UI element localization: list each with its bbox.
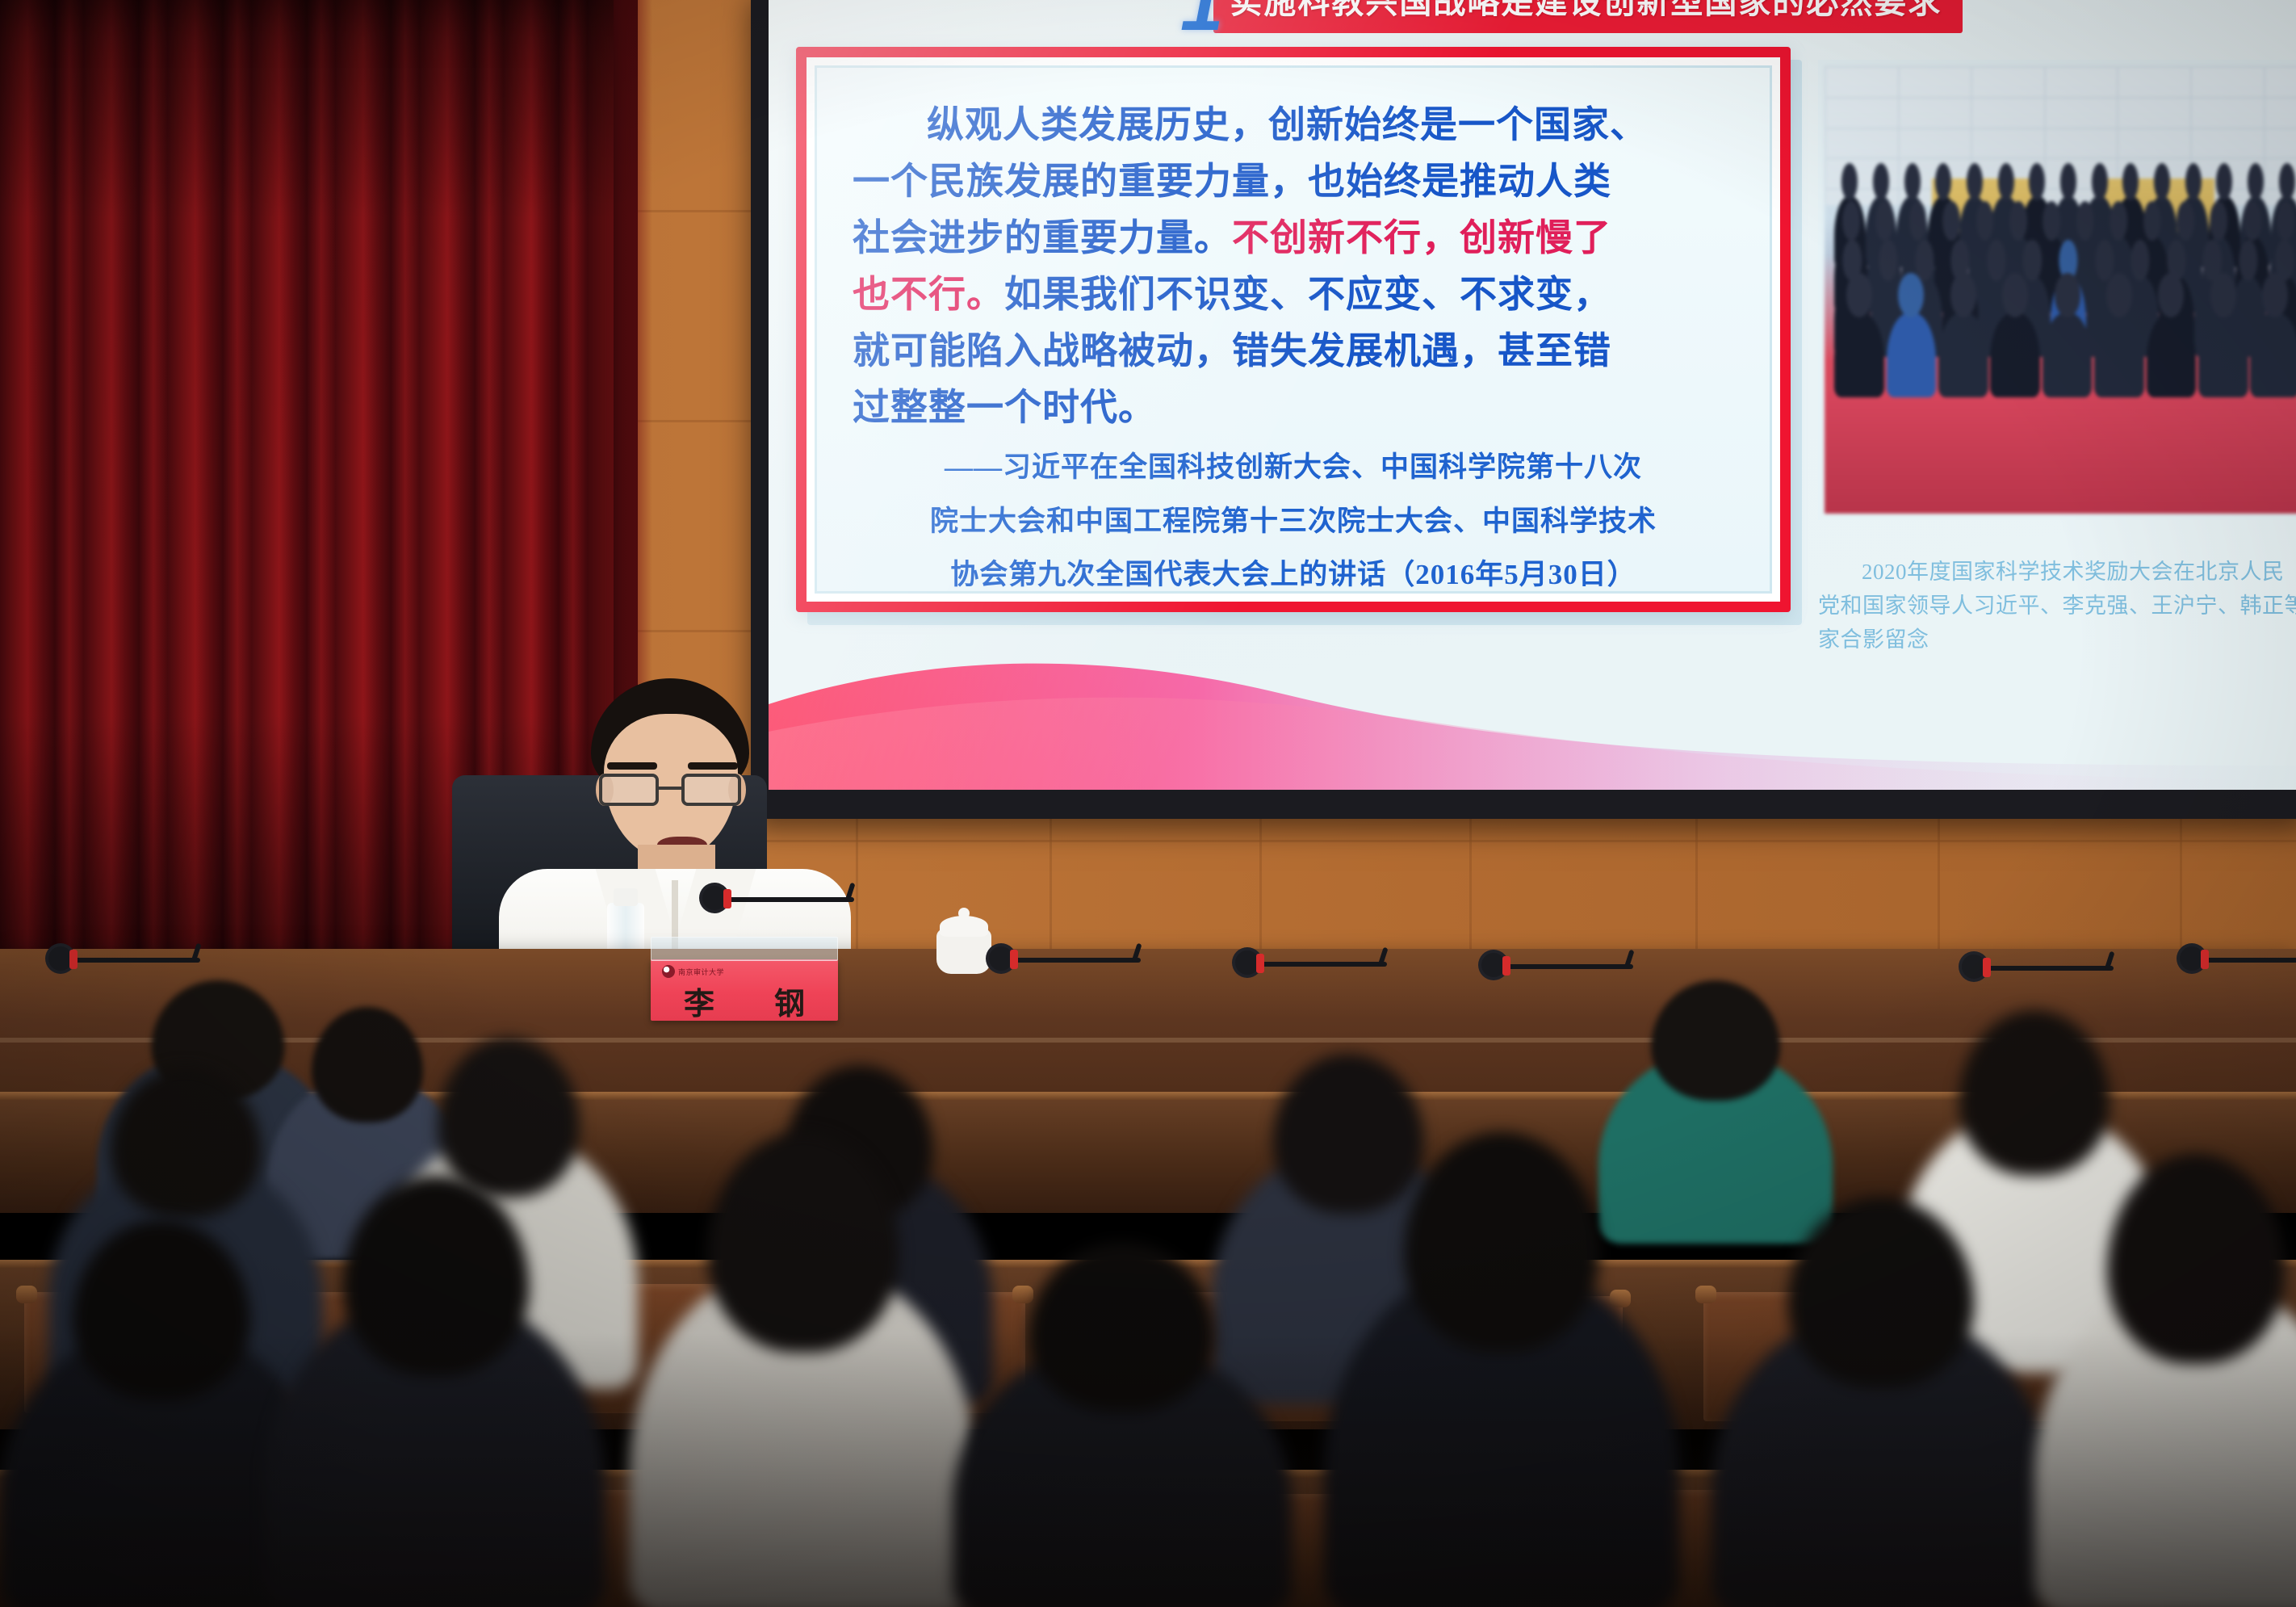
gooseneck-microphone-icon <box>1962 945 2139 993</box>
quote-body: 纵观人类发展历史，创新始终是一个国家、一个民族发展的重要力量，也始终是推动人类社… <box>853 97 1734 435</box>
nameplate-institution-text: 南京审计大学 <box>678 967 724 977</box>
slide-title: 实施科教兴国战略是建设创新型国家的必然要求 <box>1213 0 1963 33</box>
group-photo <box>1825 66 2296 514</box>
nameplate-name: 李 钢 <box>651 979 838 1021</box>
photo-person <box>2043 313 2093 397</box>
tea-cup-icon <box>936 929 991 974</box>
slide-wave-decoration <box>769 644 2296 790</box>
photo-person <box>1834 313 1884 397</box>
conference-scene: 1 实施科教兴国战略是建设创新型国家的必然要求 纵观人类发展历史，创新始终是一个… <box>0 0 2296 1607</box>
quote-emphasis: 不创新不行，创新慢了 <box>1232 217 1611 258</box>
quote-emphasis: 也不行。 <box>853 274 1004 315</box>
photo-person <box>2250 313 2296 397</box>
photo-person <box>2147 313 2197 397</box>
gooseneck-microphone-icon <box>989 937 1167 985</box>
quote-line: 过整整一个时代。 <box>853 380 1734 436</box>
quote-text: 就可能陷入战略被动，错失发展机遇，甚至错 <box>853 330 1611 371</box>
presenter <box>484 678 864 969</box>
photo-person <box>2198 313 2248 397</box>
photo-caption-line: 2020年度国家科学技术奖励大会在北京人民 <box>1818 556 2296 590</box>
nameplate: 南京审计大学 李 钢 <box>651 959 838 1021</box>
quote-card-inner: 纵观人类发展历史，创新始终是一个国家、一个民族发展的重要力量，也始终是推动人类社… <box>815 65 1772 594</box>
wave-shape-icon <box>769 644 2296 790</box>
university-crest-icon <box>662 965 675 978</box>
eyeglasses-icon <box>597 774 746 808</box>
quote-citation-line: 协会第九次全国代表大会上的讲话（2016年5月30日） <box>853 554 1734 597</box>
photo-caption: 2020年度国家科学技术奖励大会在北京人民党和国家领导人习近平、李克强、王沪宁、… <box>1818 556 2296 657</box>
photo-person <box>1887 313 1937 397</box>
gooseneck-microphone-icon <box>1481 943 1659 992</box>
presenter-brow-left <box>607 762 657 770</box>
quote-citation: ——习近平在全国科技创新大会、中国科学院第十八次院士大会和中国工程院第十三次院士… <box>853 447 1734 597</box>
photo-red-carpet <box>1825 392 2296 514</box>
quote-text: 过整整一个时代。 <box>853 387 1156 428</box>
photo-caption-line: 党和国家领导人习近平、李克强、王沪宁、韩正等 <box>1818 590 2296 623</box>
quote-line: 纵观人类发展历史，创新始终是一个国家、 <box>853 97 1734 153</box>
quote-line: 一个民族发展的重要力量，也始终是推动人类 <box>853 153 1734 210</box>
group-photo-frame <box>1818 60 2296 520</box>
projection-screen: 1 实施科教兴国战略是建设创新型国家的必然要求 纵观人类发展历史，创新始终是一个… <box>769 0 2296 790</box>
quote-line: 社会进步的重要力量。不创新不行，创新慢了 <box>853 210 1734 266</box>
nameplate-institution-logo: 南京审计大学 <box>662 965 724 978</box>
photo-person <box>1938 313 1988 397</box>
quote-text: 社会进步的重要力量。 <box>853 217 1232 258</box>
quote-line: 也不行。如果我们不识变、不应变、不求变， <box>853 266 1734 323</box>
quote-text: 一个民族发展的重要力量，也始终是推动人类 <box>853 161 1611 202</box>
photo-person <box>1990 313 2040 397</box>
quote-text: 如果我们不识变、不应变、不求变， <box>1004 274 1611 315</box>
slide-section-number: 1 <box>1180 0 1220 43</box>
quote-line: 就可能陷入战略被动，错失发展机遇，甚至错 <box>853 323 1734 380</box>
slide-title-group: 1 实施科教兴国战略是建设创新型国家的必然要求 <box>1180 0 1963 32</box>
quote-text: 纵观人类发展历史，创新始终是一个国家、 <box>927 104 1648 145</box>
gooseneck-microphone-icon <box>702 876 880 925</box>
quote-citation-line: 院士大会和中国工程院第十三次院士大会、中国科学技术 <box>853 501 1734 543</box>
presenter-brow-right <box>688 762 738 770</box>
gooseneck-microphone-icon <box>2180 937 2296 985</box>
photo-person <box>2094 313 2144 397</box>
gooseneck-microphone-icon <box>1235 941 1413 989</box>
nameplate-acrylic-holder <box>651 937 838 961</box>
quote-citation-line: ——习近平在全国科技创新大会、中国科学院第十八次 <box>853 447 1734 489</box>
quote-card: 纵观人类发展历史，创新始终是一个国家、一个民族发展的重要力量，也始终是推动人类社… <box>796 47 1791 612</box>
gooseneck-microphone-icon <box>48 937 226 985</box>
